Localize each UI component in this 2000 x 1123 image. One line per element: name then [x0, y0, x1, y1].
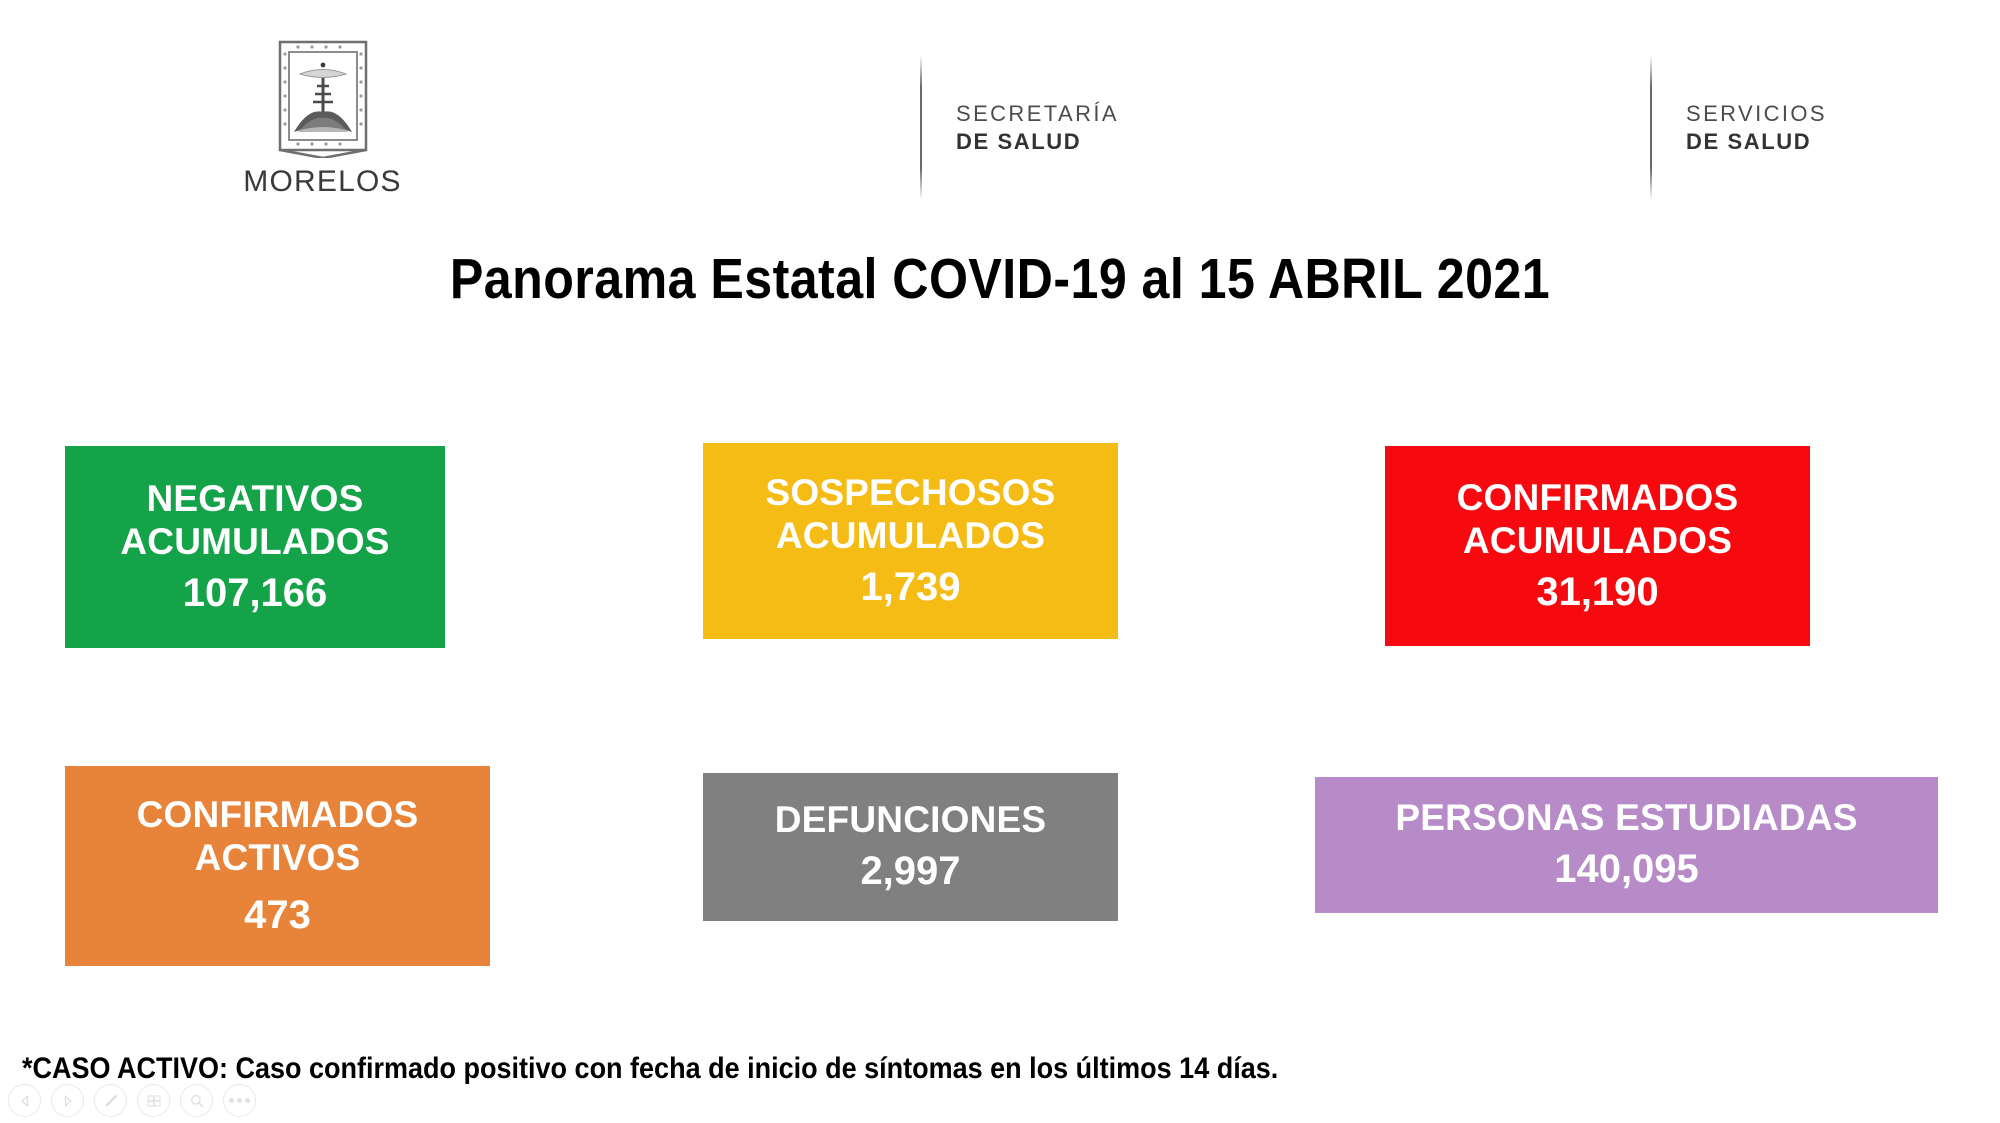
- stat-label: CONFIRMADOS ACUMULADOS: [1457, 477, 1739, 563]
- magnifier-icon: [189, 1093, 205, 1109]
- stat-value: 1,739: [860, 564, 960, 610]
- stat-label: DEFUNCIONES: [775, 799, 1047, 842]
- presentation-slide: MORELOS SECRETARÍA DE SALUD SERVICIOS DE…: [0, 0, 2000, 1123]
- previous-slide-button[interactable]: [8, 1084, 41, 1117]
- next-slide-button[interactable]: [51, 1084, 84, 1117]
- previous-slide-icon: [18, 1094, 32, 1108]
- stat-card-personas-estudiadas: PERSONAS ESTUDIADAS 140,095: [1315, 777, 1938, 913]
- stat-value: 140,095: [1554, 846, 1699, 892]
- stat-card-confirmados-activos: CONFIRMADOS ACTIVOS 473: [65, 766, 490, 966]
- stat-card-defunciones: DEFUNCIONES 2,997: [703, 773, 1118, 921]
- slide-grid-icon: [146, 1093, 162, 1109]
- stat-card-negativos-acumulados: NEGATIVOS ACUMULADOS 107,166: [65, 446, 445, 648]
- presenter-toolbar[interactable]: [8, 1084, 256, 1117]
- pen-icon: [103, 1093, 119, 1109]
- zoom-button[interactable]: [180, 1084, 213, 1117]
- servicios-de-salud-logo: SERVICIOS DE SALUD: [1650, 55, 1827, 200]
- stat-value: 107,166: [183, 570, 328, 616]
- stat-value: 2,997: [860, 848, 960, 894]
- stat-card-confirmados-acumulados: CONFIRMADOS ACUMULADOS 31,190: [1385, 446, 1810, 646]
- stat-label: SOSPECHOSOS ACUMULADOS: [765, 472, 1055, 558]
- secretaria-de-salud-logo: SECRETARÍA DE SALUD: [920, 55, 1119, 200]
- stat-label: NEGATIVOS ACUMULADOS: [120, 478, 389, 564]
- stat-value: 31,190: [1536, 569, 1658, 615]
- more-options-button[interactable]: [223, 1084, 256, 1117]
- morelos-state-logo: MORELOS: [230, 38, 415, 199]
- stat-label: CONFIRMADOS ACTIVOS: [137, 794, 419, 880]
- slide-grid-button[interactable]: [137, 1084, 170, 1117]
- morelos-coat-of-arms-icon: [276, 38, 370, 158]
- morelos-wordmark: MORELOS: [243, 165, 401, 199]
- slide-header: MORELOS SECRETARÍA DE SALUD SERVICIOS DE…: [0, 0, 2000, 215]
- pen-tool-button[interactable]: [94, 1084, 127, 1117]
- more-options-icon: [229, 1098, 250, 1103]
- servicios-logo-line1: SERVICIOS: [1686, 100, 1827, 128]
- servicios-logo-line2: DE SALUD: [1686, 128, 1827, 156]
- next-slide-icon: [61, 1094, 75, 1108]
- footnote-caso-activo: *CASO ACTIVO: Caso confirmado positivo c…: [22, 1052, 1278, 1086]
- stat-value: 473: [244, 892, 311, 938]
- page-title: Panorama Estatal COVID-19 al 15 ABRIL 20…: [120, 246, 1880, 312]
- stat-card-sospechosos-acumulados: SOSPECHOSOS ACUMULADOS 1,739: [703, 443, 1118, 639]
- logo-divider-rule: [1650, 55, 1652, 200]
- secretaria-logo-line1: SECRETARÍA: [956, 100, 1119, 128]
- logo-divider-rule: [920, 55, 922, 200]
- stat-label: PERSONAS ESTUDIADAS: [1395, 797, 1857, 840]
- secretaria-logo-line2: DE SALUD: [956, 128, 1119, 156]
